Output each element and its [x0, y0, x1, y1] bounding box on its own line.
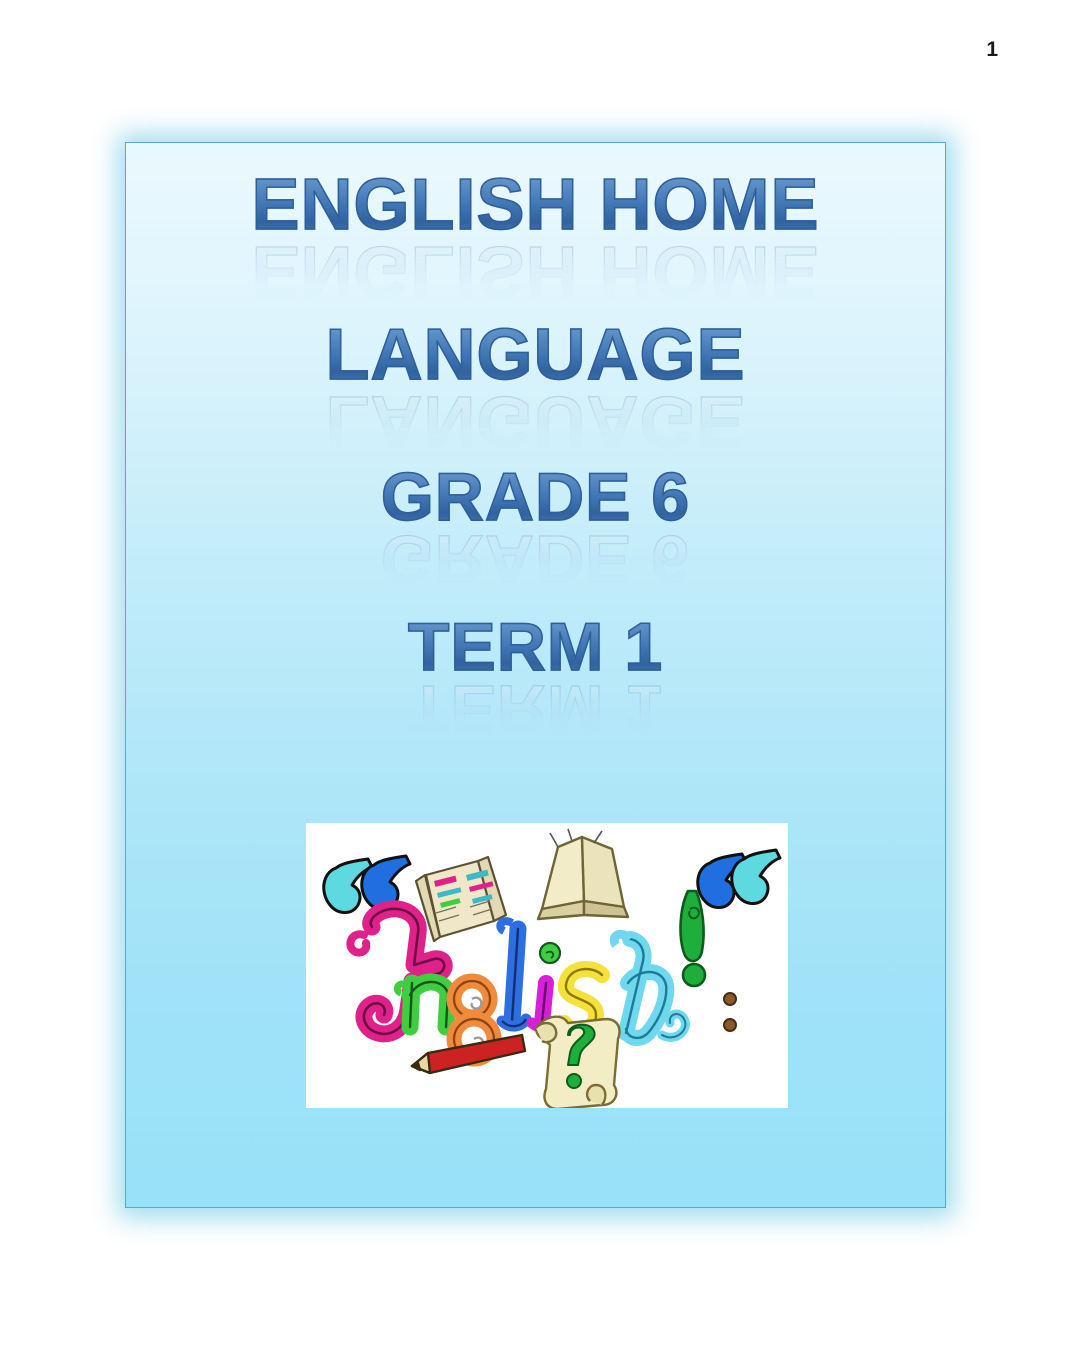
- title-line-term: TERM 1 TERM 1: [126, 613, 945, 681]
- title-line-grade: GRADE 6 GRADE 6: [126, 463, 945, 531]
- exclamation-mark-icon: [681, 891, 705, 986]
- title-text: GRADE 6: [381, 463, 690, 531]
- title-reflection: TERM 1: [126, 675, 945, 743]
- title-text: LANGUAGE: [326, 319, 746, 391]
- title-line-language: LANGUAGE LANGUAGE: [126, 319, 945, 391]
- cover-box: ENGLISH HOME ENGLISH HOME LANGUAGE LANGU…: [125, 142, 946, 1208]
- title-text: ENGLISH HOME: [251, 169, 819, 241]
- title-text: TERM 1: [408, 613, 663, 681]
- english-clipart-image: [306, 823, 788, 1108]
- title-reflection: GRADE 6: [126, 525, 945, 593]
- title-reflection: LANGUAGE: [126, 385, 945, 457]
- page-number: 1: [986, 38, 998, 62]
- title-reflection: ENGLISH HOME: [126, 235, 945, 307]
- scroll-question-icon: [536, 1017, 620, 1108]
- title-line-english-home: ENGLISH HOME ENGLISH HOME: [126, 169, 945, 241]
- english-clipart-svg: [306, 823, 788, 1108]
